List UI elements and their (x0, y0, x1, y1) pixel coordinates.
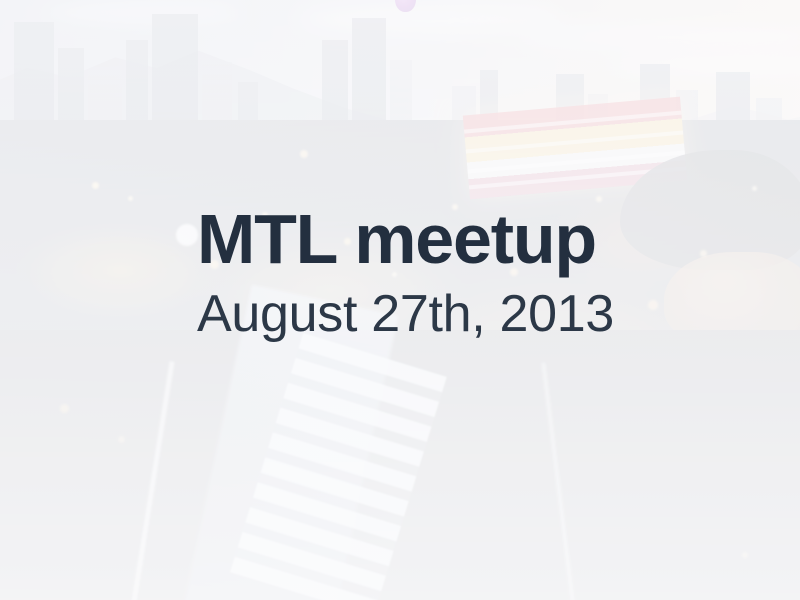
slide-subtitle: August 27th, 2013 (197, 288, 614, 340)
headline-block: MTL meetup August 27th, 2013 (197, 204, 614, 340)
title-slide: MTL meetup August 27th, 2013 (0, 0, 800, 600)
slide-title: MTL meetup (197, 204, 614, 274)
